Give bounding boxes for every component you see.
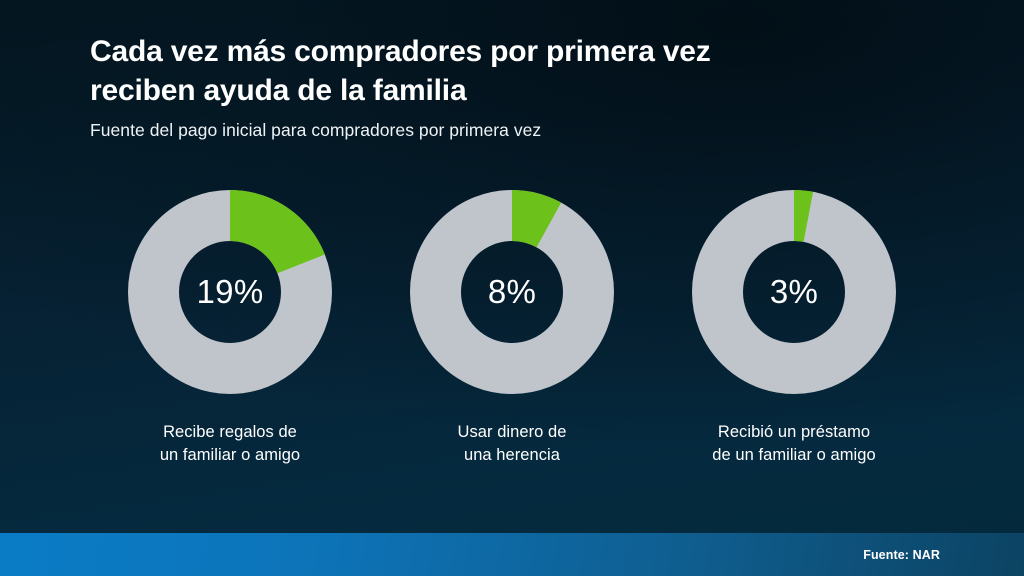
donut-graphic-0: 19% [128,190,332,394]
footer-bar: Fuente: NAR [0,533,1024,576]
header: Cada vez más compradores por primera vez… [90,32,950,142]
donut-caption-2: Recibió un préstamo de un familiar o ami… [712,421,875,468]
donut-chart-2: 3% Recibió un préstamo de un familiar o … [692,190,896,468]
page-title: Cada vez más compradores por primera vez… [90,32,950,110]
donut-svg-1 [410,190,614,394]
donut-track-1 [436,216,589,369]
donut-chart-row: 19% Recibe regalos de un familiar o amig… [0,190,1024,468]
donut-svg-2 [692,190,896,394]
source-attribution: Fuente: NAR [863,548,940,562]
donut-chart-0: 19% Recibe regalos de un familiar o amig… [128,190,332,468]
page-subtitle: Fuente del pago inicial para compradores… [90,119,950,142]
donut-graphic-2: 3% [692,190,896,394]
slide-canvas: Cada vez más compradores por primera vez… [0,0,1024,576]
donut-graphic-1: 8% [410,190,614,394]
donut-svg-0 [128,190,332,394]
donut-caption-1: Usar dinero de una herencia [458,421,567,468]
donut-caption-0: Recibe regalos de un familiar o amigo [160,421,300,468]
donut-chart-1: 8% Usar dinero de una herencia [410,190,614,468]
